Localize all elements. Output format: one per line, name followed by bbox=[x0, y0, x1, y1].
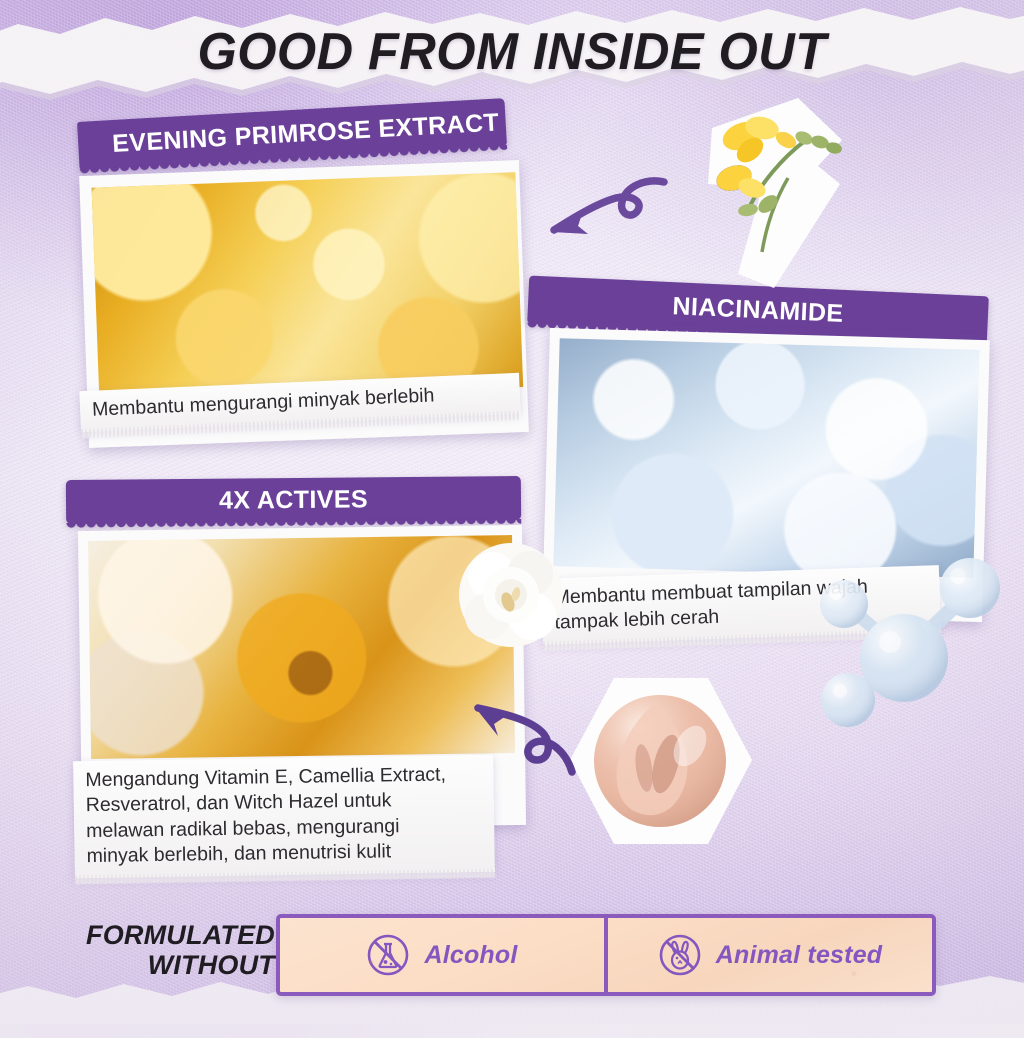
curved-arrow-pointing-left bbox=[528, 168, 668, 264]
caption-text: Membantu mengurangi minyak berlebih bbox=[92, 384, 435, 420]
card-banner-evening-primrose: EVENING PRIMROSE EXTRACT bbox=[77, 98, 507, 170]
badge-animal-tested: Animal tested bbox=[604, 918, 932, 992]
free-from-badges: Alcohol Animal tested bbox=[276, 914, 936, 996]
formulated-without-line-2: WITHOUT bbox=[60, 950, 275, 980]
card-banner-four-x-actives: 4X ACTIVES bbox=[66, 476, 521, 524]
banner-label: NIACINAMIDE bbox=[672, 292, 844, 329]
caption-niacinamide: Membantu membuat tampilan wajah tampak l… bbox=[541, 565, 941, 645]
badge-alcohol: Alcohol bbox=[280, 918, 604, 992]
peach-cream-swatch bbox=[562, 672, 758, 850]
golden-oil-droplets-photo bbox=[92, 172, 524, 402]
formulated-without-label: FORMULATED WITHOUT bbox=[60, 920, 275, 980]
badge-animal-tested-label: Animal tested bbox=[716, 941, 883, 970]
yellow-freesia-flower bbox=[690, 92, 870, 292]
card-four-x-actives: 4X ACTIVES Mengandung Vitamin E, Camelli… bbox=[66, 470, 541, 890]
caption-four-x-actives: Mengandung Vitamin E, Camellia Extract, … bbox=[73, 755, 495, 879]
page-title: GOOD FROM INSIDE OUT bbox=[15, 22, 1008, 82]
formulated-without-line-1: FORMULATED bbox=[60, 920, 275, 950]
badge-alcohol-label: Alcohol bbox=[424, 941, 517, 970]
card-evening-primrose: EVENING PRIMROSE EXTRACT Membantu mengur… bbox=[78, 110, 533, 455]
card-niacinamide: NIACINAMIDE Membantu membuat tampilan wa… bbox=[528, 272, 1000, 672]
no-alcohol-flask-icon bbox=[366, 933, 410, 977]
banner-label: 4X ACTIVES bbox=[219, 485, 368, 515]
no-animal-testing-rabbit-icon bbox=[658, 933, 702, 977]
blue-gel-spheres-photo bbox=[553, 338, 979, 578]
caption-line-4: minyak berlebih, dan menutrisi kulit bbox=[86, 838, 484, 870]
caption-frayed-edge bbox=[75, 869, 495, 885]
amber-flower-in-gel-photo bbox=[88, 535, 515, 759]
